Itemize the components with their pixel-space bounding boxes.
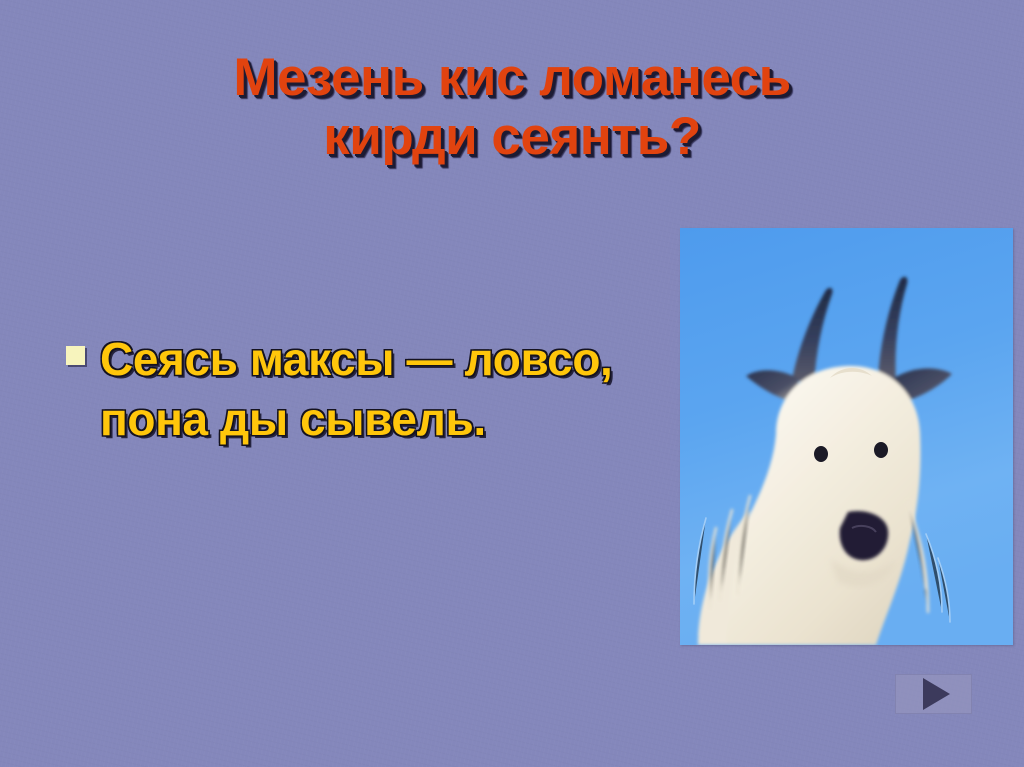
list-item-label: Сеясь максы — ловсо, пона ды сывель. bbox=[100, 333, 612, 445]
play-button[interactable] bbox=[895, 674, 972, 714]
page-title: Мезень кис ломанесь кирди сеянть? bbox=[80, 48, 944, 167]
body-content: Сеясь максы — ловсо, пона ды сывель. bbox=[64, 330, 634, 450]
play-triangle-icon bbox=[923, 678, 950, 710]
list-item: Сеясь максы — ловсо, пона ды сывель. bbox=[64, 330, 634, 450]
goat-illustration bbox=[680, 228, 1013, 645]
slide-canvas: Мезень кис ломанесь кирди сеянть? Сеясь … bbox=[0, 0, 1024, 767]
square-bullet-icon bbox=[66, 346, 85, 365]
mountain-goat-photo bbox=[680, 228, 1013, 645]
